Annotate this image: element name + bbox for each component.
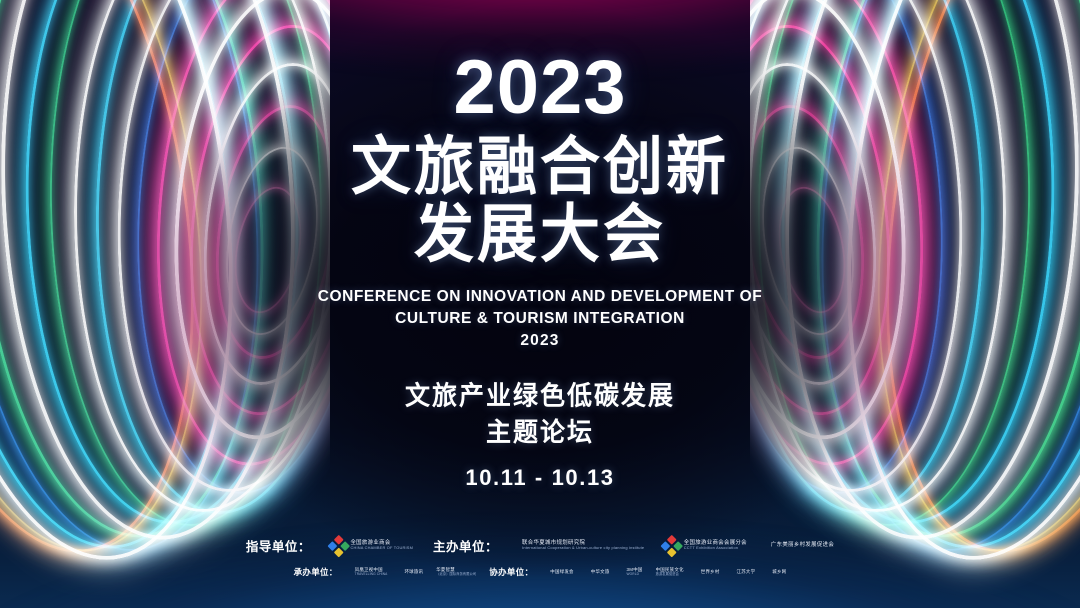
conference-poster: 2023 文旅融合创新 发展大会 CONFERENCE ON INNOVATIO… (0, 0, 1080, 608)
sponsor-row-secondary: 承办单位：凤凰卫视中国TRAVELLING CHINA环球旅讯华夏智慧（北京）国… (294, 566, 787, 578)
sponsor-name-cn: 中华文旅 (591, 570, 610, 575)
sponsor-name-cn: 世界乡村 (701, 570, 720, 575)
sponsor-logo: 联合华夏城市规划研究院International Cooperation & U… (518, 540, 644, 550)
subtitle-english: CONFERENCE ON INNOVATION AND DEVELOPMENT… (318, 286, 762, 352)
sponsor-section: 指导单位：全国旅游业商会CHINA CHAMBER OF TOURISM主办单位… (0, 536, 1080, 578)
sponsor-category-label: 指导单位： (246, 536, 311, 555)
forum-theme: 文旅产业绿色低碳发展 主题论坛 (405, 379, 675, 451)
sponsor-logo: 广东美丽乡村发展促进会 (767, 542, 834, 548)
sponsor-name-en: WORLD (627, 573, 643, 577)
sponsor-category-label: 主办单位： (433, 536, 498, 555)
sponsor-logo: 3M中国WORLD (623, 568, 643, 577)
sponsor-logo: 中国民族文化旅游发展促进会 (656, 568, 684, 577)
sponsor-name-en: CCTT Exhibition Association (684, 546, 747, 550)
sponsor-row-primary: 指导单位：全国旅游业商会CHINA CHAMBER OF TOURISM主办单位… (246, 536, 834, 555)
sponsor-name-en: 旅游发展促进会 (656, 573, 684, 577)
sponsor-logo: 华夏智慧（北京）国际商务有限公司 (436, 568, 476, 577)
sponsor-name-cn: 江苏大学 (737, 570, 756, 575)
sponsor-name-en: TRAVELLING CHINA (355, 573, 388, 577)
sponsor-logo: 世界乡村 (697, 570, 720, 575)
event-dates: 10.11 - 10.13 (465, 465, 614, 491)
tiles-icon (664, 538, 680, 554)
sponsor-category-label: 协办单位： (489, 566, 533, 578)
sponsor-name-cn: 环球旅讯 (404, 570, 423, 575)
forum-line1: 文旅产业绿色低碳发展 (405, 382, 675, 411)
sponsor-name-en: International Cooperation & Urban-cultur… (522, 546, 644, 550)
title-cn-line1: 文旅融合创新 (351, 131, 729, 202)
sponsor-name-cn: 城乡网 (772, 570, 786, 575)
tiles-icon (331, 538, 347, 554)
sponsor-logo: 中华文旅 (587, 570, 610, 575)
sponsor-name-cn: 中国绿发会 (550, 570, 573, 575)
sponsor-category-label: 承办单位： (294, 566, 338, 578)
poster-content: 2023 文旅融合创新 发展大会 CONFERENCE ON INNOVATIO… (0, 0, 1080, 608)
sponsor-logo: 城乡网 (768, 570, 786, 575)
sponsor-logo: 全国旅游业商会会展分会CCTT Exhibition Association (664, 538, 747, 554)
page-title: 文旅融合创新 发展大会 (351, 133, 729, 268)
year-heading: 2023 (453, 52, 626, 125)
sponsor-logo: 全国旅游业商会CHINA CHAMBER OF TOURISM (331, 538, 413, 554)
sponsor-logo: 凤凰卫视中国TRAVELLING CHINA (351, 568, 388, 577)
sponsor-name-en: （北京）国际商务有限公司 (436, 573, 476, 577)
subtitle-en-year: 2023 (318, 330, 762, 352)
sponsor-name-en: CHINA CHAMBER OF TOURISM (350, 546, 413, 550)
sponsor-logo: 中国绿发会 (546, 570, 573, 575)
sponsor-logo: 江苏大学 (733, 570, 756, 575)
subtitle-en-line2: CULTURE & TOURISM INTEGRATION (395, 310, 685, 327)
title-cn-line2: 发展大会 (351, 201, 729, 268)
sponsor-name-cn: 广东美丽乡村发展促进会 (771, 542, 834, 548)
forum-line2: 主题论坛 (405, 415, 675, 451)
sponsor-logo: 环球旅讯 (400, 570, 423, 575)
subtitle-en-line1: CONFERENCE ON INNOVATION AND DEVELOPMENT… (318, 288, 762, 305)
